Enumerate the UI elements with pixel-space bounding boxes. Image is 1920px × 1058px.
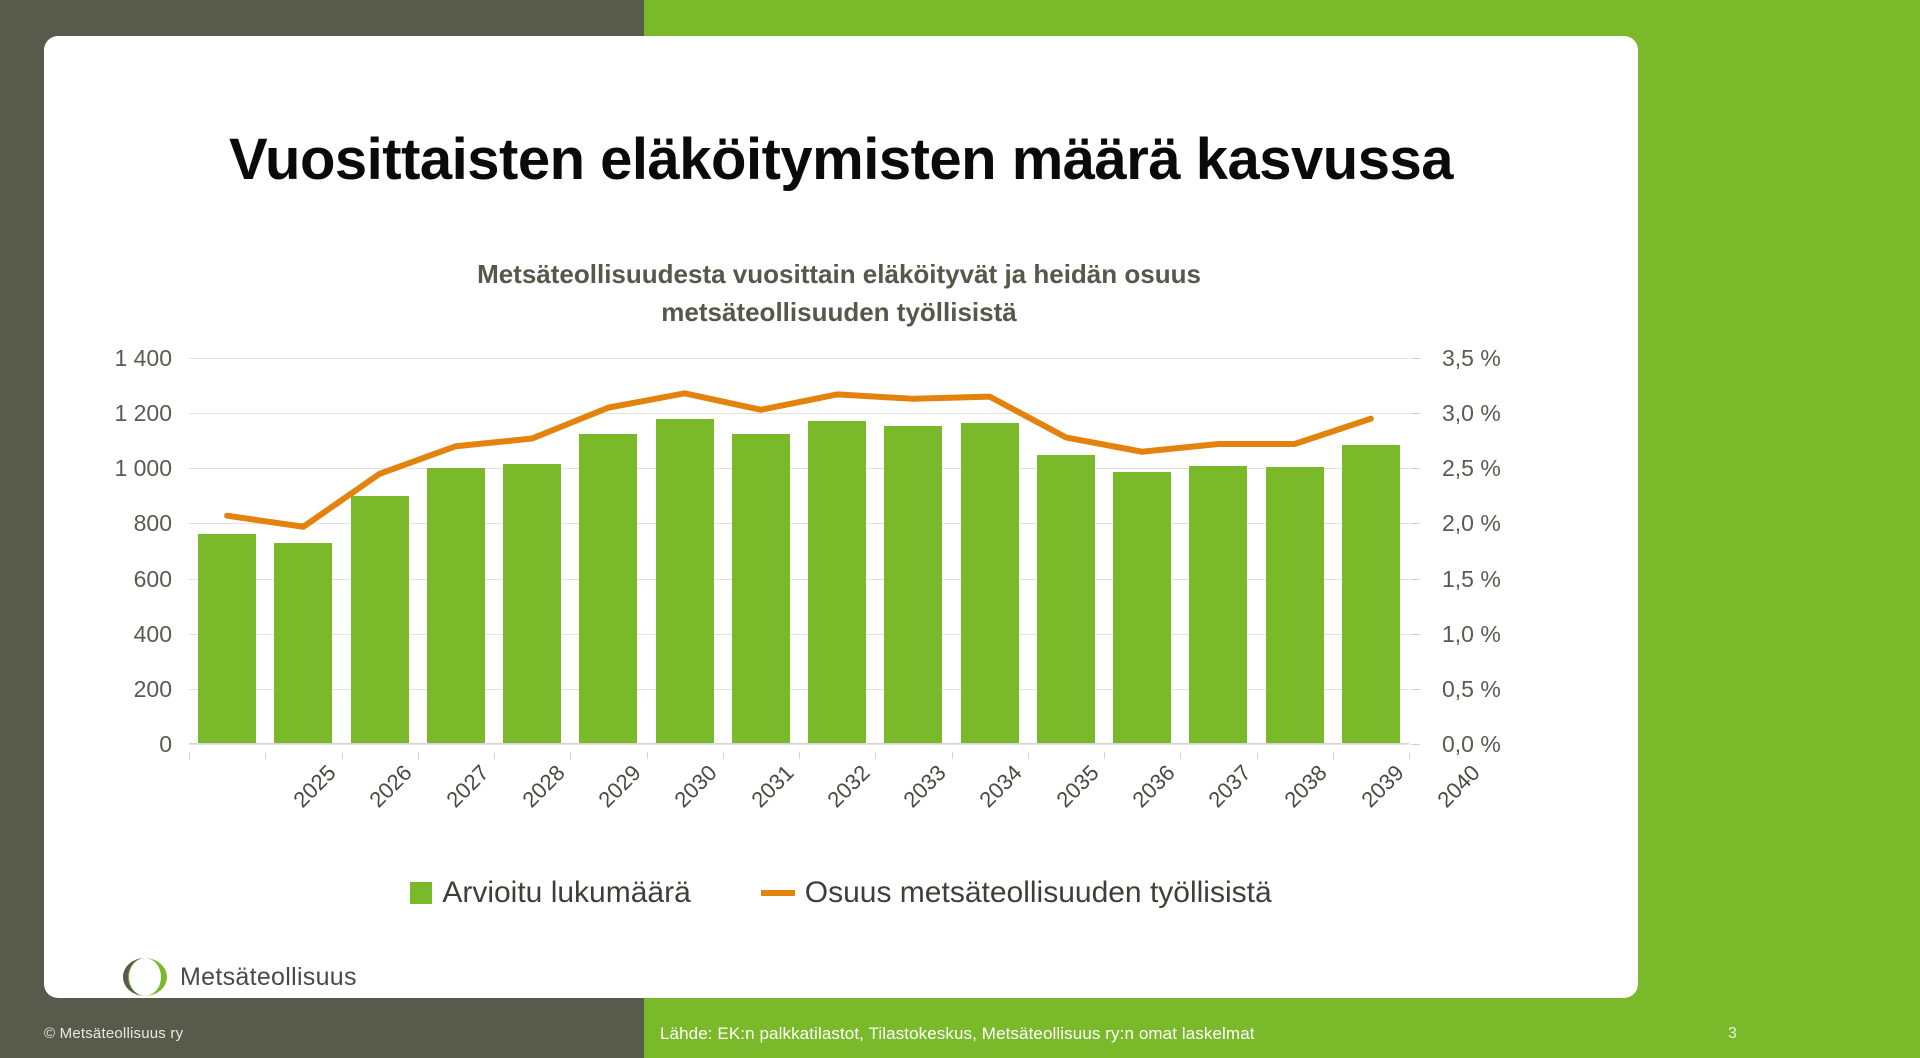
bar[interactable] <box>1266 467 1324 744</box>
y-axis-right-tick: 3,0 % <box>1442 400 1552 427</box>
bar-slot <box>1333 358 1409 744</box>
x-axis-labels: 2025202620272028202920302031203220332034… <box>189 752 1409 842</box>
legend-label-line: Osuus metsäteollisuuden työllisistä <box>805 876 1272 910</box>
bar[interactable] <box>961 423 1019 744</box>
x-axis-tickmark <box>647 752 648 759</box>
page-title: Vuosittaisten eläköitymisten määrä kasvu… <box>44 126 1638 193</box>
y-axis-left-tick: 200 <box>62 676 172 703</box>
footer-copyright: © Metsäteollisuus ry <box>44 1025 183 1042</box>
x-axis-tickmark <box>1028 752 1029 759</box>
y-axis-right-tick: 1,5 % <box>1442 566 1552 593</box>
x-axis-label: 2036 <box>1112 760 1180 828</box>
x-axis-label: 2032 <box>807 760 875 828</box>
x-axis-tickmark <box>570 752 571 759</box>
x-axis-tickmark <box>799 752 800 759</box>
bar-slot <box>875 358 951 744</box>
y-axis-left-tick: 0 <box>62 731 172 758</box>
y-axis-right-tick: 0,5 % <box>1442 676 1552 703</box>
bar[interactable] <box>1342 445 1400 744</box>
x-axis-label: 2029 <box>579 760 647 828</box>
y-axis-left-tick: 800 <box>62 510 172 537</box>
bar[interactable] <box>884 426 942 744</box>
legend-item-line[interactable]: Osuus metsäteollisuuden työllisistä <box>761 876 1272 910</box>
bar-slot <box>189 358 265 744</box>
chart-title-line-1: Metsäteollisuudesta vuosittain eläköityv… <box>324 256 1354 294</box>
bar-slot <box>952 358 1028 744</box>
x-axis-line <box>189 743 1409 744</box>
x-axis-tickmark <box>1409 752 1410 759</box>
y-axis-right-tickmark <box>1411 358 1420 359</box>
y-axis-right-tickmark <box>1411 413 1420 414</box>
bar[interactable] <box>427 468 485 744</box>
x-axis-tickmark <box>342 752 343 759</box>
x-axis-tickmark <box>1180 752 1181 759</box>
bar-slot <box>723 358 799 744</box>
x-axis-label: 2040 <box>1417 760 1485 828</box>
bar[interactable] <box>808 421 866 744</box>
y-axis-left-tick: 1 400 <box>62 345 172 372</box>
x-axis-label: 2039 <box>1341 760 1409 828</box>
y-axis-right-tick: 1,0 % <box>1442 621 1552 648</box>
footer-source: Lähde: EK:n palkkatilastot, Tilastokesku… <box>660 1024 1255 1044</box>
x-axis-tickmark <box>418 752 419 759</box>
logo-wordmark: Metsäteollisuus <box>180 963 357 992</box>
chart-container: Metsäteollisuudesta vuosittain eläköityv… <box>44 236 1638 976</box>
bar-slot <box>1104 358 1180 744</box>
gridline <box>189 744 1409 745</box>
x-axis-label: 2027 <box>426 760 494 828</box>
x-axis-tickmark <box>875 752 876 759</box>
chart-legend: Arvioitu lukumäärä Osuus metsäteollisuud… <box>44 876 1638 910</box>
x-axis-label: 2031 <box>731 760 799 828</box>
plot-area: 02004006008001 0001 2001 400 0,0 %0,5 %1… <box>189 358 1409 744</box>
bar[interactable] <box>351 496 409 744</box>
x-axis-label: 2033 <box>884 760 952 828</box>
y-axis-right-tickmark <box>1411 634 1420 635</box>
y-axis-right-tick: 3,5 % <box>1442 345 1552 372</box>
y-axis-right-tickmark <box>1411 689 1420 690</box>
legend-item-bars[interactable]: Arvioitu lukumäärä <box>410 876 690 910</box>
x-axis-tickmark <box>1257 752 1258 759</box>
y-axis-right-tick: 0,0 % <box>1442 731 1552 758</box>
x-axis-tickmark <box>1104 752 1105 759</box>
x-axis-label: 2030 <box>655 760 723 828</box>
legend-swatch-line-icon <box>761 890 795 896</box>
slide: Vuosittaisten eläköitymisten määrä kasvu… <box>0 0 1920 1058</box>
x-axis-label: 2035 <box>1036 760 1104 828</box>
bar-series <box>189 358 1409 744</box>
x-axis-label: 2028 <box>502 760 570 828</box>
bar[interactable] <box>579 434 637 744</box>
bar[interactable] <box>1113 472 1171 744</box>
bar[interactable] <box>1189 466 1247 744</box>
x-axis-label: 2026 <box>350 760 418 828</box>
bar[interactable] <box>198 534 256 744</box>
bar-slot <box>647 358 723 744</box>
x-axis-label: 2038 <box>1265 760 1333 828</box>
x-axis-tickmark <box>723 752 724 759</box>
bar-slot <box>799 358 875 744</box>
bar-slot <box>342 358 418 744</box>
slide-content-card: Vuosittaisten eläköitymisten määrä kasvu… <box>44 36 1638 998</box>
y-axis-right-tickmark <box>1411 468 1420 469</box>
bar[interactable] <box>503 464 561 744</box>
legend-swatch-square-icon <box>410 882 432 904</box>
metsateollisuus-logo-icon <box>122 956 168 998</box>
brand-logo: Metsäteollisuus <box>122 956 357 998</box>
y-axis-left-tick: 600 <box>62 566 172 593</box>
bar-slot <box>494 358 570 744</box>
y-axis-right-tickmark <box>1411 744 1420 745</box>
y-axis-right-tick: 2,0 % <box>1442 510 1552 537</box>
bar-slot <box>1257 358 1333 744</box>
y-axis-right-tickmark <box>1411 579 1420 580</box>
legend-label-bars: Arvioitu lukumäärä <box>442 876 690 910</box>
x-axis-tickmark <box>494 752 495 759</box>
bar-slot <box>1180 358 1256 744</box>
bar[interactable] <box>1037 455 1095 745</box>
x-axis-label: 2034 <box>960 760 1028 828</box>
bar-slot <box>570 358 646 744</box>
x-axis-tickmark <box>265 752 266 759</box>
footer-page-number: 3 <box>1728 1025 1737 1043</box>
bar-slot <box>1028 358 1104 744</box>
y-axis-left-tick: 400 <box>62 621 172 648</box>
chart-title-line-2: metsäteollisuuden työllisistä <box>324 294 1354 332</box>
bar-slot <box>265 358 341 744</box>
x-axis-tickmark <box>189 752 190 759</box>
x-axis-tickmark <box>1333 752 1334 759</box>
y-axis-right-tickmark <box>1411 523 1420 524</box>
y-axis-left-tick: 1 000 <box>62 455 172 482</box>
y-axis-left-tick: 1 200 <box>62 400 172 427</box>
bar[interactable] <box>656 419 714 744</box>
bar[interactable] <box>732 434 790 744</box>
x-axis-label: 2025 <box>274 760 342 828</box>
bar-slot <box>418 358 494 744</box>
bar[interactable] <box>274 543 332 744</box>
y-axis-right-tick: 2,5 % <box>1442 455 1552 482</box>
chart-title: Metsäteollisuudesta vuosittain eläköityv… <box>324 256 1354 331</box>
x-axis-label: 2037 <box>1189 760 1257 828</box>
slide-footer: © Metsäteollisuus ry Lähde: EK:n palkkat… <box>0 1012 1920 1058</box>
x-axis-tickmark <box>952 752 953 759</box>
